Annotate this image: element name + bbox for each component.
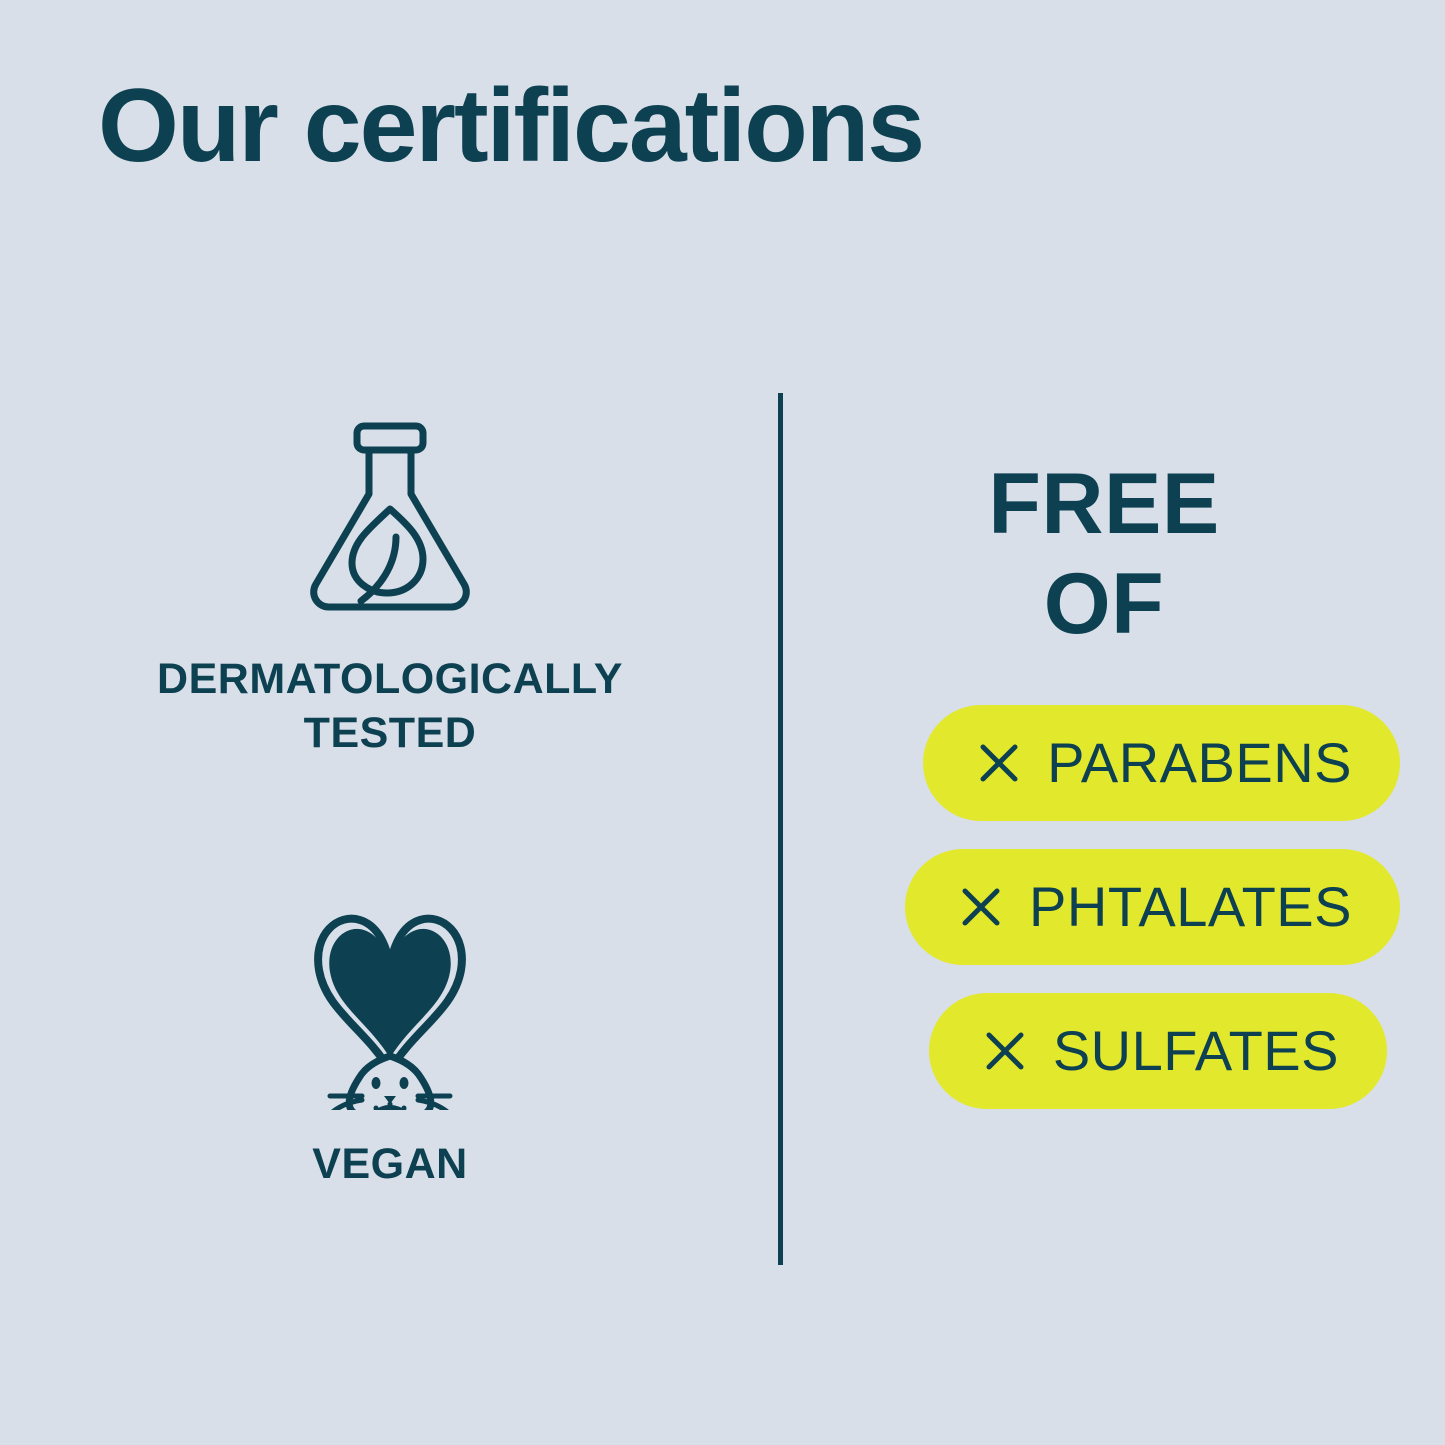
cross-icon bbox=[961, 887, 1001, 927]
certifications-column: DERMATOLOGICALLY TESTED bbox=[60, 400, 720, 1270]
certification-dermatologically-tested: DERMATOLOGICALLY TESTED bbox=[60, 420, 720, 760]
free-of-item-label: SULFATES bbox=[1053, 1018, 1339, 1083]
free-of-column: FREE OF PARABENS PHTALATES SULFATE bbox=[840, 455, 1400, 1109]
page-title: Our certifications bbox=[98, 72, 923, 181]
free-of-heading-line2: OF bbox=[840, 555, 1368, 655]
certification-label-line1: DERMATOLOGICALLY bbox=[157, 655, 623, 703]
free-of-heading-line1: FREE bbox=[840, 455, 1368, 555]
flask-leaf-icon bbox=[60, 420, 720, 630]
certifications-panel: Our certifications DERMATOLOGICALLY TES bbox=[0, 0, 1445, 1445]
certification-label: DERMATOLOGICALLY TESTED bbox=[60, 652, 720, 760]
free-of-item-sulfates: SULFATES bbox=[929, 993, 1387, 1109]
certification-label-line1: VEGAN bbox=[312, 1140, 467, 1188]
free-of-item-label: PHTALATES bbox=[1029, 874, 1352, 939]
cross-icon bbox=[979, 743, 1019, 783]
free-of-item-phtalates: PHTALATES bbox=[905, 849, 1400, 965]
free-of-list: PARABENS PHTALATES SULFATES bbox=[840, 705, 1400, 1109]
rabbit-heart-ears-icon bbox=[60, 910, 720, 1115]
certification-label-line2: TESTED bbox=[304, 709, 477, 757]
free-of-item-parabens: PARABENS bbox=[923, 705, 1400, 821]
cross-icon bbox=[985, 1031, 1025, 1071]
free-of-heading: FREE OF bbox=[840, 455, 1400, 655]
certification-vegan: VEGAN bbox=[60, 910, 720, 1191]
certification-label: VEGAN bbox=[60, 1137, 720, 1191]
vertical-divider bbox=[778, 393, 783, 1265]
free-of-item-label: PARABENS bbox=[1047, 730, 1352, 795]
